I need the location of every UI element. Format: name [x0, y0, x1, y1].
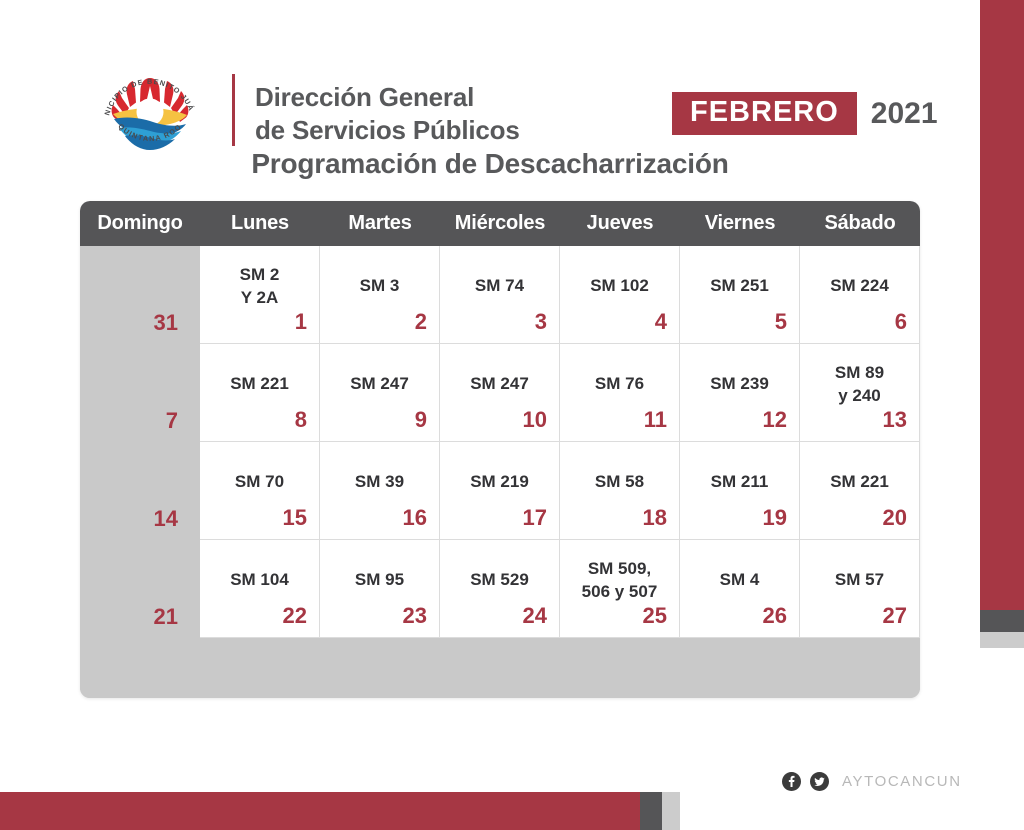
- calendar-header-row: DomingoLunesMartesMiércolesJuevesViernes…: [80, 201, 920, 246]
- right-accent-bar-dark: [980, 610, 1024, 632]
- calendar-day-cell[interactable]: SM 7015: [200, 442, 320, 540]
- calendar-cell-zone: SM 211: [711, 471, 769, 493]
- calendar-day-cell[interactable]: 28: [80, 638, 200, 698]
- calendar-column-header-martes: Martes: [320, 201, 440, 246]
- calendar-day-cell[interactable]: SM 23912: [680, 344, 800, 442]
- calendar-day-cell[interactable]: 14: [80, 442, 200, 540]
- year-label: 2021: [871, 99, 938, 129]
- calendar-cell-daynumber: 17: [523, 505, 547, 531]
- calendar-cell-zone: SM 102: [590, 275, 649, 297]
- calendar-cell-zone: SM 89 y 240: [835, 362, 884, 406]
- calendar-day-cell[interactable]: SM 2246: [800, 246, 920, 344]
- calendar-day-cell[interactable]: SM 3916: [320, 442, 440, 540]
- calendar-day-cell[interactable]: [560, 638, 680, 698]
- right-accent-bar-red: [980, 0, 1024, 610]
- department-title-line1: Dirección General: [255, 81, 520, 114]
- calendar-cell-daynumber: 6: [895, 309, 907, 335]
- social-handle: AYTOCANCUN: [842, 773, 962, 790]
- calendar-day-cell[interactable]: SM 24710: [440, 344, 560, 442]
- calendar-cell-daynumber: 10: [523, 407, 547, 433]
- calendar-cell-daynumber: 7: [166, 408, 178, 434]
- calendar-day-cell[interactable]: 7: [80, 344, 200, 442]
- calendar-cell-zone: SM 219: [470, 471, 529, 493]
- calendar-cell-zone: SM 529: [470, 569, 529, 591]
- calendar-cell-zone: SM 509, 506 y 507: [582, 558, 658, 602]
- calendar-cell-daynumber: 14: [154, 506, 178, 532]
- calendar-column-header-mircoles: Miércoles: [440, 201, 560, 246]
- calendar-day-cell[interactable]: SM 426: [680, 540, 800, 638]
- calendar-cell-daynumber: 3: [535, 309, 547, 335]
- calendar-day-cell[interactable]: SM 7611: [560, 344, 680, 442]
- calendar-day-cell[interactable]: [440, 638, 560, 698]
- calendar-cell-daynumber: 18: [643, 505, 667, 531]
- calendar-cell-zone: SM 247: [350, 373, 409, 395]
- calendar-day-cell[interactable]: SM 21917: [440, 442, 560, 540]
- month-label: FEBRERO: [672, 92, 857, 135]
- calendar-cell-zone: SM 4: [720, 569, 760, 591]
- bottom-bar-light: [662, 792, 680, 830]
- calendar-day-cell[interactable]: [200, 638, 320, 698]
- calendar-day-cell[interactable]: [800, 638, 920, 698]
- calendar-cell-daynumber: 20: [883, 505, 907, 531]
- calendar-cell-zone: SM 58: [595, 471, 644, 493]
- calendar-cell-zone: SM 239: [710, 373, 769, 395]
- calendar-cell-daynumber: 25: [643, 603, 667, 629]
- calendar-column-header-domingo: Domingo: [80, 201, 200, 246]
- calendar-cell-daynumber: 15: [283, 505, 307, 531]
- calendar-day-cell[interactable]: SM 21119: [680, 442, 800, 540]
- calendar-cell-zone: SM 39: [355, 471, 404, 493]
- calendar-day-cell[interactable]: SM 32: [320, 246, 440, 344]
- calendar-day-cell[interactable]: SM 2 Y 2A1: [200, 246, 320, 344]
- calendar-day-cell[interactable]: SM 5727: [800, 540, 920, 638]
- calendar-day-cell[interactable]: SM 10422: [200, 540, 320, 638]
- twitter-icon[interactable]: [810, 772, 829, 791]
- calendar-cell-daynumber: 21: [154, 604, 178, 630]
- calendar-cell-zone: SM 224: [830, 275, 889, 297]
- calendar-cell-daynumber: 19: [763, 505, 787, 531]
- calendar-day-cell[interactable]: SM 89 y 24013: [800, 344, 920, 442]
- calendar-cell-daynumber: 9: [415, 407, 427, 433]
- calendar-cell-daynumber: 22: [283, 603, 307, 629]
- calendar-day-cell[interactable]: [320, 638, 440, 698]
- right-accent-bar-light: [980, 632, 1024, 648]
- calendar-day-cell[interactable]: 21: [80, 540, 200, 638]
- calendar-column-header-viernes: Viernes: [680, 201, 800, 246]
- calendar-day-cell[interactable]: SM 509, 506 y 50725: [560, 540, 680, 638]
- calendar-column-header-sbado: Sábado: [800, 201, 920, 246]
- calendar-cell-zone: SM 57: [835, 569, 884, 591]
- calendar-cell-daynumber: 31: [154, 310, 178, 336]
- calendar-column-header-jueves: Jueves: [560, 201, 680, 246]
- department-title: Dirección General de Servicios Públicos: [255, 81, 520, 148]
- calendar-day-cell[interactable]: [680, 638, 800, 698]
- calendar-cell-daynumber: 5: [775, 309, 787, 335]
- calendar-day-cell[interactable]: SM 5818: [560, 442, 680, 540]
- month-year-badge: FEBRERO 2021: [672, 92, 938, 135]
- calendar-cell-zone: SM 70: [235, 471, 284, 493]
- calendar-cell-zone: SM 104: [230, 569, 289, 591]
- calendar-cell-daynumber: 12: [763, 407, 787, 433]
- calendar-day-cell[interactable]: SM 2479: [320, 344, 440, 442]
- calendar-cell-zone: SM 251: [710, 275, 769, 297]
- calendar-day-cell[interactable]: SM 743: [440, 246, 560, 344]
- poster-root: MUNICIPIO DE BENITO JUÁREZ QUINTANA ROO …: [0, 0, 1024, 830]
- calendar-day-cell[interactable]: SM 52924: [440, 540, 560, 638]
- calendar-cell-daynumber: 4: [655, 309, 667, 335]
- calendar-day-cell[interactable]: SM 2218: [200, 344, 320, 442]
- calendar-day-cell[interactable]: SM 22120: [800, 442, 920, 540]
- calendar-cell-zone: SM 221: [230, 373, 289, 395]
- calendar-cell-zone: SM 247: [470, 373, 529, 395]
- header: MUNICIPIO DE BENITO JUÁREZ QUINTANA ROO …: [0, 24, 980, 136]
- calendar-cell-daynumber: 16: [403, 505, 427, 531]
- bottom-bar-dark: [640, 792, 662, 830]
- bottom-bar-red: [0, 792, 640, 830]
- calendar-column-header-lunes: Lunes: [200, 201, 320, 246]
- header-divider: [232, 74, 235, 146]
- calendar-cell-zone: SM 76: [595, 373, 644, 395]
- calendar-cell-daynumber: 11: [644, 407, 667, 433]
- calendar-cell-zone: SM 2 Y 2A: [240, 264, 280, 308]
- calendar-cell-zone: SM 95: [355, 569, 404, 591]
- calendar-day-cell[interactable]: SM 2515: [680, 246, 800, 344]
- calendar-cell-zone: SM 221: [830, 471, 889, 493]
- calendar-day-cell[interactable]: SM 1024: [560, 246, 680, 344]
- calendar-cell-zone: SM 74: [475, 275, 524, 297]
- calendar-cell-daynumber: 2: [415, 309, 427, 335]
- calendar-cell-daynumber: 24: [523, 603, 547, 629]
- calendar-cell-daynumber: 27: [883, 603, 907, 629]
- page-title: Programación de Descacharrización: [0, 148, 980, 180]
- social-footer: AYTOCANCUN: [782, 772, 962, 791]
- calendar-cell-zone: SM 3: [360, 275, 400, 297]
- calendar-day-cell[interactable]: 31: [80, 246, 200, 344]
- calendar-cell-daynumber: 8: [295, 407, 307, 433]
- municipal-seal-logo: MUNICIPIO DE BENITO JUÁREZ QUINTANA ROO: [95, 56, 205, 161]
- facebook-icon[interactable]: [782, 772, 801, 791]
- calendar: DomingoLunesMartesMiércolesJuevesViernes…: [80, 201, 920, 698]
- department-title-line2: de Servicios Públicos: [255, 114, 520, 147]
- calendar-cell-daynumber: 1: [295, 309, 307, 335]
- calendar-cell-daynumber: 13: [883, 407, 907, 433]
- calendar-day-cell[interactable]: SM 9523: [320, 540, 440, 638]
- calendar-body: 31SM 2 Y 2A1SM 32SM 743SM 1024SM 2515SM …: [80, 246, 920, 698]
- calendar-cell-daynumber: 23: [403, 603, 427, 629]
- calendar-cell-daynumber: 26: [763, 603, 787, 629]
